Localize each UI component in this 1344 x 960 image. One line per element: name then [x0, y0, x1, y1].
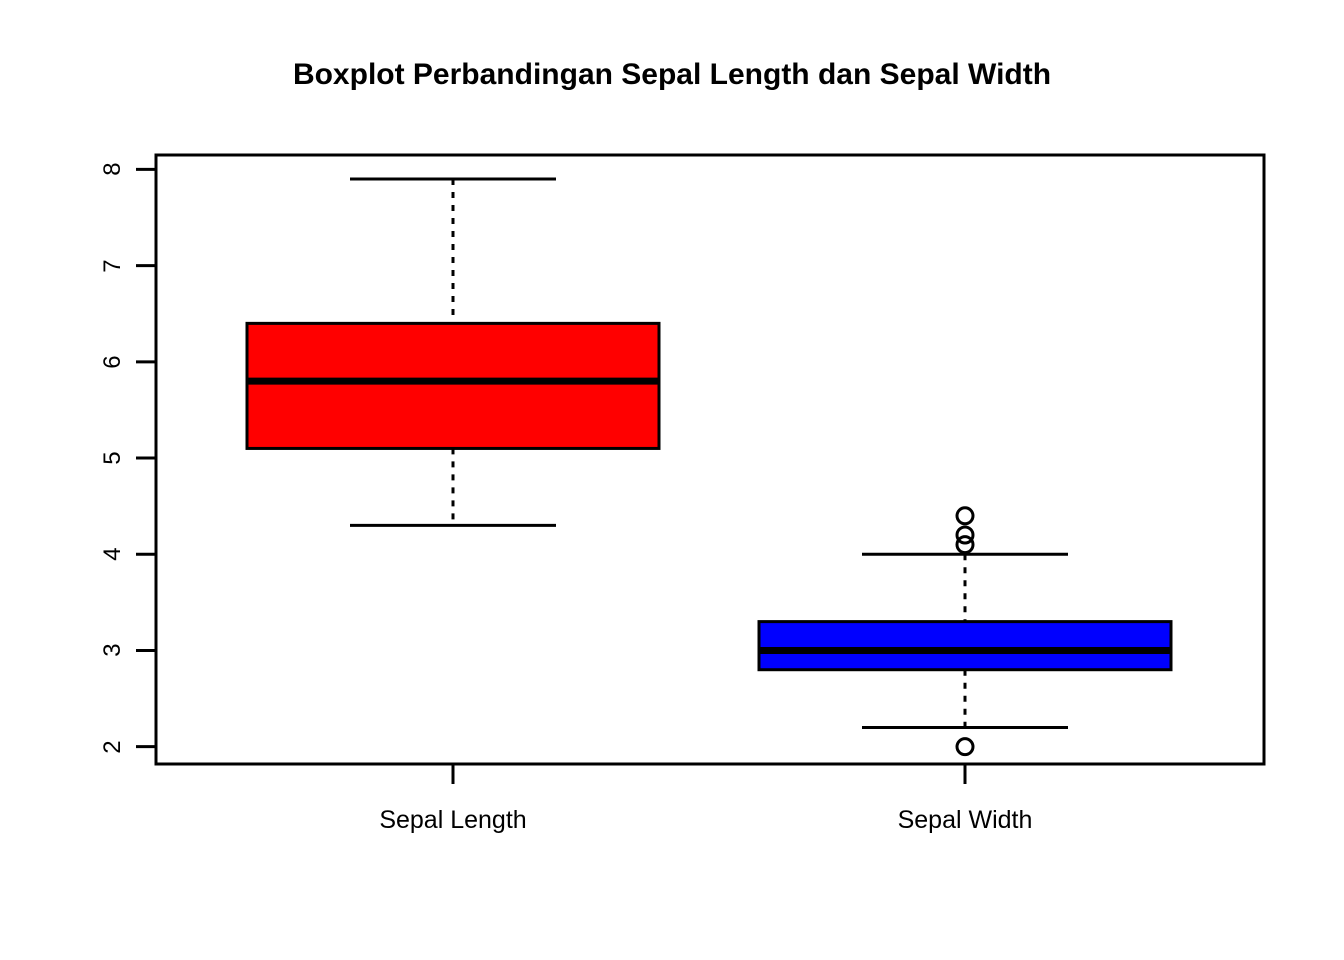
y-tick-label-8: 8: [99, 154, 127, 184]
x-axis-label-2: Sepal Width: [765, 806, 1165, 835]
box-group-1: [247, 179, 659, 525]
y-tick-label-6: 6: [99, 347, 127, 377]
y-tick-label-4: 4: [99, 539, 127, 569]
y-tick-label-5: 5: [99, 443, 127, 473]
iqr-box: [247, 323, 659, 448]
x-axis-label-1: Sepal Length: [253, 806, 653, 835]
y-tick-label-2: 2: [99, 732, 127, 762]
outlier-point-4: [957, 739, 973, 755]
y-tick-label-3: 3: [99, 635, 127, 665]
outlier-point-3: [957, 537, 973, 553]
outlier-point-1: [957, 508, 973, 524]
plot-frame: [156, 155, 1264, 764]
y-tick-label-7: 7: [99, 251, 127, 281]
box-group-2: [759, 508, 1171, 755]
boxplot-figure: Boxplot Perbandingan Sepal Length dan Se…: [0, 0, 1344, 960]
iqr-box: [759, 622, 1171, 670]
